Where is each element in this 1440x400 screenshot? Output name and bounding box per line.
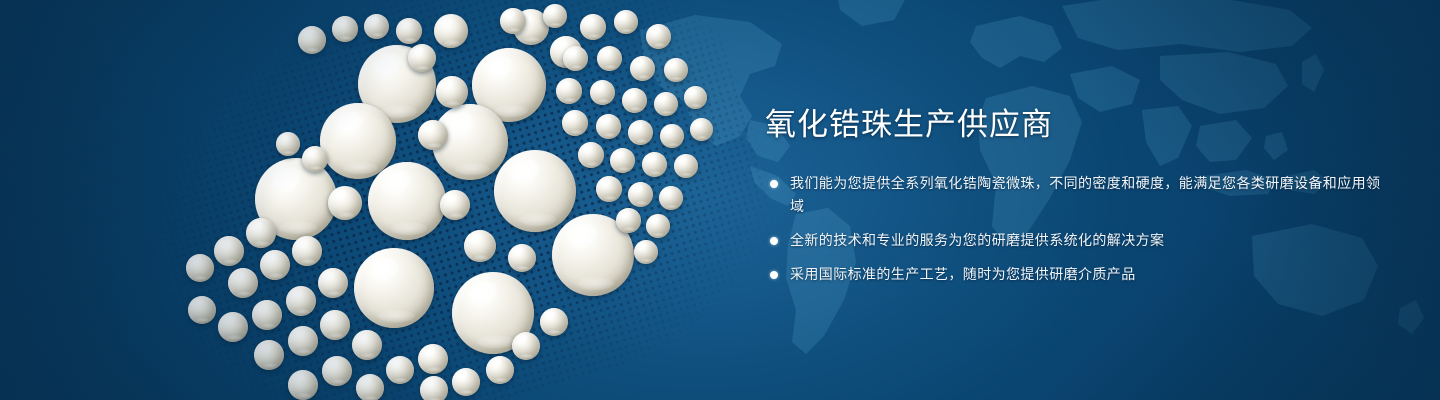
bullet-dot-icon (770, 180, 778, 188)
bullet-text: 我们能为您提供全系列氧化锆陶瓷微珠，不同的密度和硬度，能满足您各类研磨设备和应用… (790, 172, 1385, 218)
bullet-text: 采用国际标准的生产工艺，随时为您提供研磨介质产品 (790, 263, 1385, 286)
list-item: 我们能为您提供全系列氧化锆陶瓷微珠，不同的密度和硬度，能满足您各类研磨设备和应用… (765, 172, 1385, 218)
list-item: 采用国际标准的生产工艺，随时为您提供研磨介质产品 (765, 263, 1385, 286)
list-item: 全新的技术和专业的服务为您的研磨提供系统化的解决方案 (765, 229, 1385, 252)
hero-banner: 氧化锆珠生产供应商 我们能为您提供全系列氧化锆陶瓷微珠，不同的密度和硬度，能满足… (0, 0, 1440, 400)
bullet-dot-icon (770, 271, 778, 279)
page-title: 氧化锆珠生产供应商 (765, 104, 1385, 146)
feature-bullet-list: 我们能为您提供全系列氧化锆陶瓷微珠，不同的密度和硬度，能满足您各类研磨设备和应用… (765, 172, 1385, 286)
bullet-dot-icon (770, 237, 778, 245)
banner-copy-block: 氧化锆珠生产供应商 我们能为您提供全系列氧化锆陶瓷微珠，不同的密度和硬度，能满足… (765, 104, 1385, 286)
bullet-text: 全新的技术和专业的服务为您的研磨提供系统化的解决方案 (790, 229, 1385, 252)
